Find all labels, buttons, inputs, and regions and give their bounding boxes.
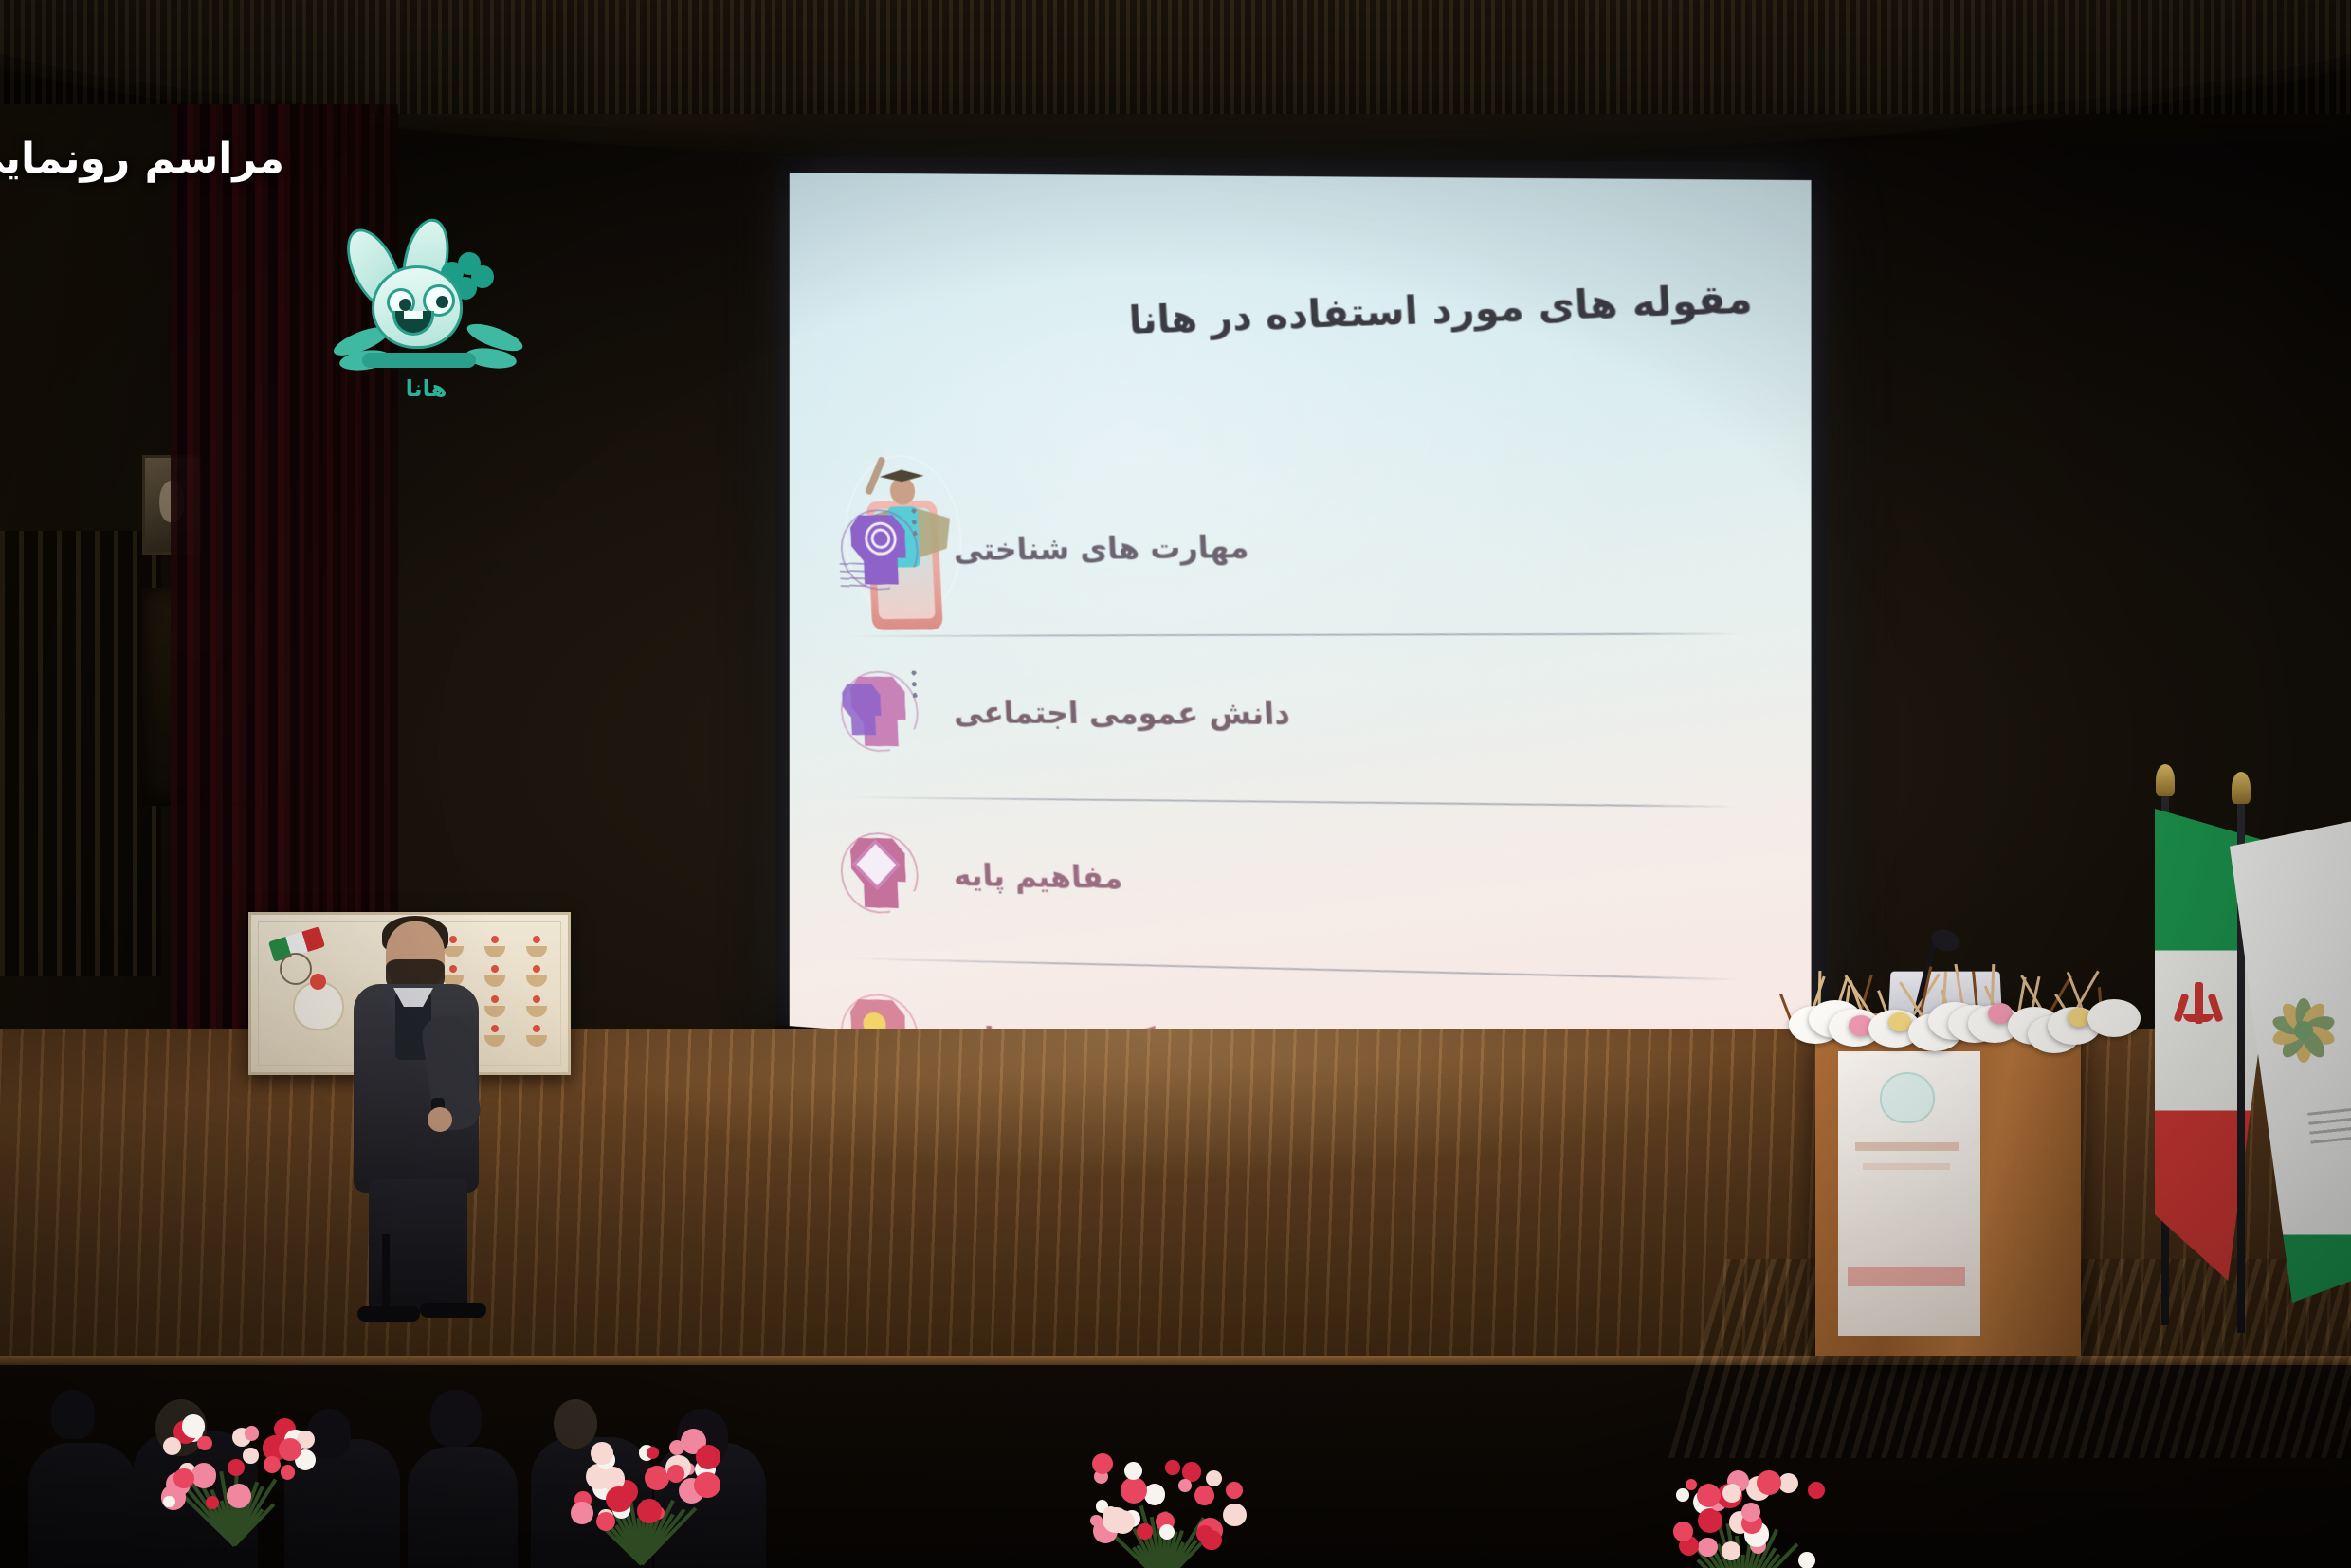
flower — [1888, 1012, 1911, 1031]
flower-bouquet — [550, 1403, 730, 1564]
head-diamond-icon — [835, 829, 923, 919]
org-flag-finial — [2232, 772, 2251, 804]
head-profile-icon — [835, 667, 923, 756]
signboard-icon — [518, 934, 555, 958]
ceiling-ribs — [0, 0, 2351, 114]
audience-seat — [28, 1443, 137, 1568]
event-photo-scene: مقوله های مورد استفاده در هانا مهارت های… — [0, 0, 2351, 1568]
flower-bouquet — [1649, 1441, 1830, 1568]
presenter — [337, 921, 498, 1320]
signboard-icon — [518, 994, 555, 1018]
flower-arrangement — [1783, 983, 2117, 1044]
signboard-icon — [518, 1023, 555, 1048]
flower-bouquet — [142, 1384, 322, 1545]
podium-banner — [1838, 1051, 1980, 1336]
signboard-icon — [518, 963, 555, 988]
head-maze-icon — [835, 505, 923, 594]
iran-emblem — [2174, 982, 2225, 1031]
flower — [2087, 999, 2141, 1037]
slide-item-row: دانش عمومی اجتماعی — [822, 627, 1775, 802]
projection-screen: مقوله های مورد استفاده در هانا مهارت های… — [790, 173, 1812, 1104]
audience-member — [51, 1390, 95, 1439]
wall-slats — [0, 531, 161, 976]
slide-item-row: مفاهیم پایه — [822, 791, 1775, 975]
slide-item-label-0: مهارت های شناختی — [953, 528, 1249, 567]
slide-item-label-1: دانش عمومی اجتماعی — [953, 694, 1291, 732]
flower-bouquet — [1071, 1422, 1251, 1568]
stage-curtain-inner — [284, 104, 398, 1033]
audience-seat — [408, 1447, 518, 1568]
org-flag-emblem — [2260, 987, 2347, 1074]
org-flag-text — [2307, 1104, 2351, 1151]
wooden-podium — [1815, 1029, 2081, 1356]
slide-item-label-2: مفاهیم پایه — [953, 856, 1123, 895]
iran-flag-finial — [2156, 764, 2175, 796]
slide-item-row: مهارت های شناختی — [822, 453, 1775, 631]
podium-banner-logo — [1880, 1072, 1935, 1123]
slide-item-list: مهارت های شناختی دانش عمومی اجتماعی — [824, 428, 1770, 1043]
audience-member — [430, 1390, 482, 1447]
